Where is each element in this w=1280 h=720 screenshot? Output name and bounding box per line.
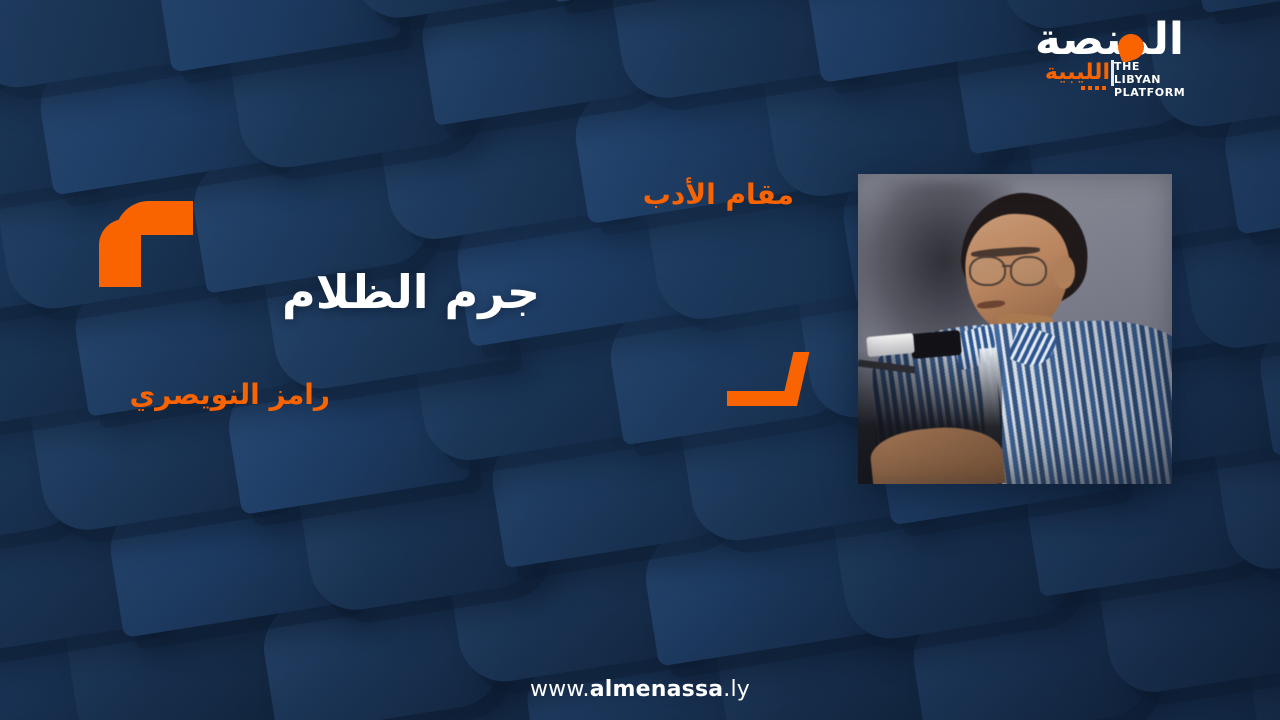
logo-english-line-2: PLATFORM: [1114, 86, 1186, 99]
portrait-inner-shadow: [858, 174, 1172, 484]
url-brand: almenassa: [590, 677, 724, 702]
section-kicker: مقام الأدب: [643, 178, 794, 212]
url-suffix: .ly: [723, 677, 750, 702]
logo-subtitle-arabic: الليبية: [1045, 62, 1110, 84]
social-media-card: المنصة الليبية THE LIBYAN PLATFORM مقام …: [0, 0, 1280, 720]
page-title: جرم الظلام: [282, 266, 540, 319]
logo-english-line-1: THE LIBYAN: [1114, 60, 1186, 86]
orange-angle-mark-icon: [727, 352, 797, 406]
logo-english-name: THE LIBYAN PLATFORM: [1114, 60, 1186, 99]
dots-icon: [1081, 86, 1106, 90]
url-prefix: www.: [530, 677, 590, 702]
website-url[interactable]: www.almenassa.ly: [0, 677, 1280, 702]
author-portrait-photo: [858, 174, 1172, 484]
logo-wordmark-arabic: المنصة: [1035, 18, 1184, 62]
brand-logo[interactable]: المنصة الليبية THE LIBYAN PLATFORM: [1002, 22, 1184, 96]
author-name: رامز النويصري: [130, 378, 331, 412]
orange-quote-mark-icon: [99, 201, 193, 287]
